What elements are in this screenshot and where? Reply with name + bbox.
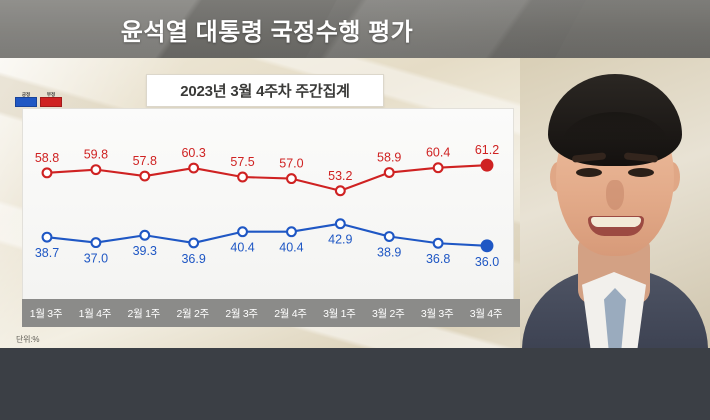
footer-bar: ·의뢰 기관: 미디어트리뷴 ·조사 기관: 리얼미터 ·표본 수: 전국 만 … (0, 348, 710, 420)
data-label: 61.2 (475, 143, 499, 157)
data-label: 53.2 (328, 169, 352, 183)
unit-label: 단위:% (16, 334, 39, 345)
data-point (385, 168, 394, 177)
data-label: 38.7 (35, 246, 59, 260)
data-point (336, 219, 345, 228)
data-label: 42.9 (328, 233, 352, 247)
data-label: 38.9 (377, 246, 401, 260)
portrait-eye-right (628, 168, 654, 177)
data-label: 58.9 (377, 151, 401, 165)
series-line-긍정 (47, 224, 487, 246)
data-point (336, 186, 345, 195)
legend-item-negative: 부정 (41, 92, 61, 107)
data-point (189, 239, 198, 248)
portrait-mouth (588, 216, 644, 236)
series-line-부정 (47, 165, 487, 191)
data-point (482, 240, 493, 251)
data-label: 36.8 (426, 252, 450, 266)
portrait-nose (606, 180, 624, 210)
x-tick-label: 2월 4주 (274, 306, 306, 321)
portrait-eye-left (576, 168, 602, 177)
portrait-teeth (591, 217, 641, 227)
data-point (385, 232, 394, 241)
page-title: 윤석열 대통령 국정수행 평가 (0, 0, 534, 58)
data-point (238, 227, 247, 236)
legend-swatch-positive (15, 97, 37, 107)
legend-item-positive: 긍정 (16, 92, 36, 107)
data-point (43, 233, 52, 242)
data-label: 57.0 (279, 157, 303, 171)
header-bar: 윤석열 대통령 국정수행 평가 (0, 0, 710, 58)
data-label: 40.4 (279, 241, 303, 255)
data-label: 37.0 (84, 252, 108, 266)
data-label: 59.8 (84, 148, 108, 162)
line-chart: 58.859.857.860.357.557.053.258.960.461.2… (23, 109, 513, 299)
x-tick-label: 2월 1주 (128, 306, 160, 321)
x-axis-labels: 1월 3주1월 4주2월 1주2월 2주2월 3주2월 4주3월 1주3월 2주… (22, 299, 550, 327)
x-tick-label: 2월 2주 (176, 306, 208, 321)
chart-legend: 긍정 부정 (16, 92, 61, 107)
data-point (91, 165, 100, 174)
subtitle-chip: 2023년 3월 4주차 주간집계 (146, 74, 384, 107)
data-label: 57.8 (133, 154, 157, 168)
x-tick-label: 1월 4주 (79, 306, 111, 321)
data-point (140, 172, 149, 181)
data-label: 57.5 (230, 155, 254, 169)
data-point (43, 168, 52, 177)
data-label: 40.4 (230, 241, 254, 255)
x-tick-label: 3월 4주 (470, 306, 502, 321)
poll-card: 윤석열 대통령 국정수행 평가 2023년 3월 4주차 주간집계 긍정 부정 … (0, 0, 710, 420)
data-label: 60.3 (181, 146, 205, 160)
data-point (91, 238, 100, 247)
data-point (189, 164, 198, 173)
data-point (434, 163, 443, 172)
data-point (238, 173, 247, 182)
data-label: 58.8 (35, 151, 59, 165)
data-point (434, 239, 443, 248)
x-tick-label: 3월 1주 (323, 306, 355, 321)
legend-swatch-negative (40, 97, 62, 107)
data-label: 39.3 (133, 244, 157, 258)
portrait-hair (548, 74, 682, 166)
data-label: 60.4 (426, 146, 450, 160)
x-tick-label: 2월 3주 (225, 306, 257, 321)
chart-plot-area: 58.859.857.860.357.557.053.258.960.461.2… (22, 108, 514, 300)
x-tick-label: 1월 3주 (30, 306, 62, 321)
x-tick-label: 3월 3주 (421, 306, 453, 321)
x-tick-label: 3월 2주 (372, 306, 404, 321)
data-point (482, 160, 493, 171)
data-label: 36.0 (475, 255, 499, 269)
data-point (140, 231, 149, 240)
data-label: 36.9 (181, 252, 205, 266)
data-point (287, 227, 296, 236)
data-point (287, 174, 296, 183)
president-portrait (520, 58, 710, 348)
